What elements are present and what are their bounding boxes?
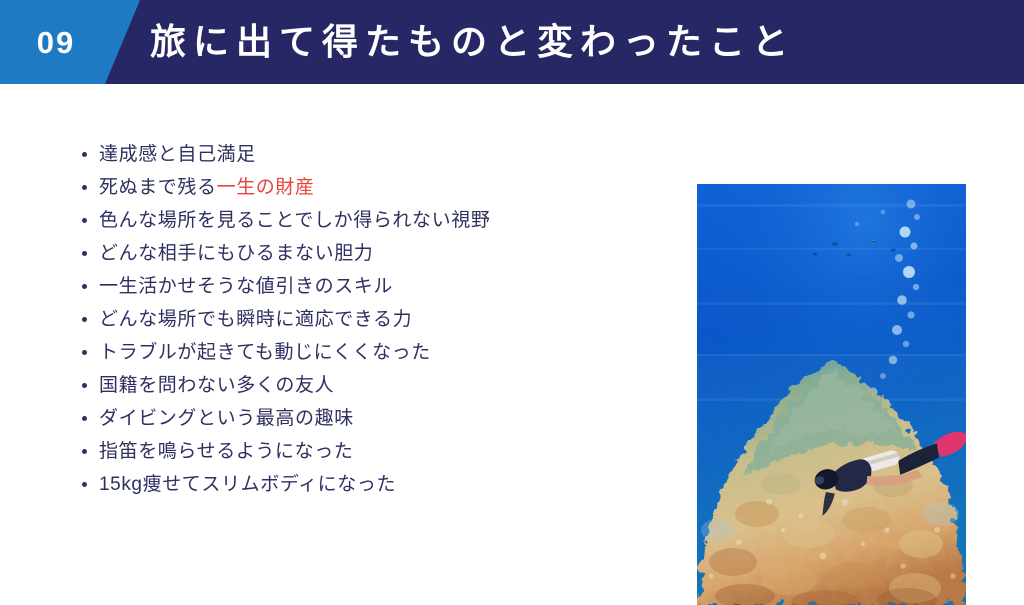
list-item-text: どんな相手にもひるまない胆力 [99,243,373,264]
list-item-text: 15kg痩せてスリムボディになった [99,474,396,495]
slide-header: 09 旅に出て得たものと変わったこと [0,0,1024,84]
list-item: 死ぬまで残る一生の財産 [80,175,670,200]
bullet-dot-icon [82,218,87,223]
list-item-text: トラブルが起きても動じにくくなった [99,342,431,363]
list-item: 15kg痩せてスリムボディになった [80,472,670,497]
list-item-text: 一生活かせそうな値引きのスキル [99,276,393,297]
list-item-text: 死ぬまで残る [99,177,217,198]
list-item-highlight: 一生の財産 [217,177,315,198]
photo-artwork [697,184,966,605]
list-item: どんな場所でも瞬時に適応できる力 [80,307,670,332]
bullet-dot-icon [82,152,87,157]
benefits-list: 達成感と自己満足 死ぬまで残る一生の財産 色んな場所を見ることでしか得られない視… [80,142,670,497]
list-item: 色んな場所を見ることでしか得られない視野 [80,208,670,233]
list-item: トラブルが起きても動じにくくなった [80,340,670,365]
bullet-dot-icon [82,416,87,421]
list-item: ダイビングという最高の趣味 [80,406,670,431]
slide-number: 09 [0,0,112,84]
slide-content: 達成感と自己満足 死ぬまで残る一生の財産 色んな場所を見ることでしか得られない視… [0,84,1024,576]
bullet-dot-icon [82,185,87,190]
list-item-text: 色んな場所を見ることでしか得られない視野 [99,210,490,231]
list-item-text: 指笛を鳴らせるようになった [99,441,353,462]
bullet-dot-icon [82,284,87,289]
bullet-dot-icon [82,350,87,355]
list-item-text: ダイビングという最高の趣味 [99,408,354,429]
list-item: 国籍を問わない多くの友人 [80,373,670,398]
slide-title: 旅に出て得たものと変わったこと [150,0,795,84]
bullet-dot-icon [82,449,87,454]
list-item: 一生活かせそうな値引きのスキル [80,274,670,299]
bullet-dot-icon [82,251,87,256]
slide-root: 09 旅に出て得たものと変わったこと 達成感と自己満足 死ぬまで残る一生の財産 … [0,0,1024,576]
bullet-dot-icon [82,317,87,322]
list-item-text: 国籍を問わない多くの友人 [99,375,334,396]
bullet-dot-icon [82,482,87,487]
list-item: 指笛を鳴らせるようになった [80,439,670,464]
list-item-text: 達成感と自己満足 [99,144,256,165]
underwater-diving-photo [697,184,966,605]
bullet-dot-icon [82,383,87,388]
list-item: 達成感と自己満足 [80,142,670,167]
list-item-text: どんな場所でも瞬時に適応できる力 [99,309,412,330]
list-item: どんな相手にもひるまない胆力 [80,241,670,266]
